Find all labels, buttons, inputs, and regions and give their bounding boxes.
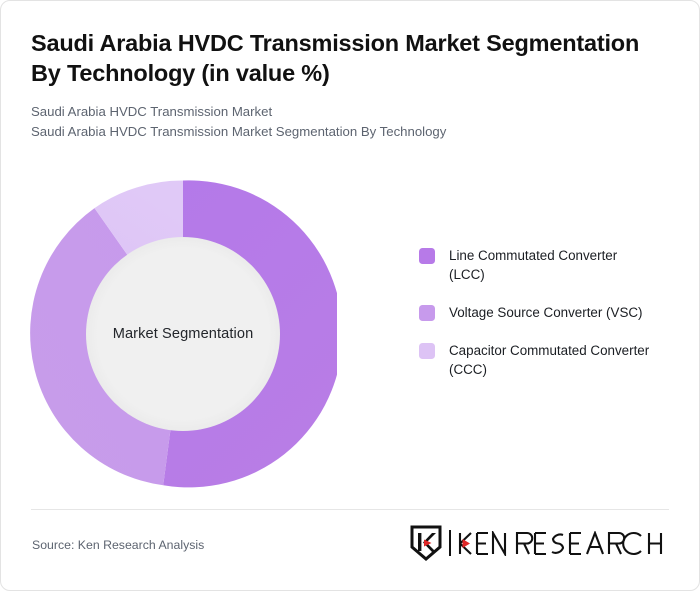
legend-swatch-icon-lcc [419,248,435,264]
ken-research-wordmark-icon [458,531,670,556]
donut-hole [86,237,280,431]
footer-divider [31,509,669,510]
source-note: Source: Ken Research Analysis [32,538,204,552]
donut-chart: Market Segmentation [29,180,337,488]
legend-label-vsc: Voltage Source Converter (VSC) [449,303,643,322]
subtitle-line-1: Saudi Arabia HVDC Transmission Market [31,102,669,122]
ken-research-shield-icon [410,525,442,561]
ken-research-logo [410,524,670,562]
subtitle-line-2: Saudi Arabia HVDC Transmission Market Se… [31,122,669,142]
header: Saudi Arabia HVDC Transmission Market Se… [31,28,669,142]
page-title: Saudi Arabia HVDC Transmission Market Se… [31,28,669,88]
donut-svg [29,180,337,488]
logo-divider [449,530,451,556]
legend-swatch-icon-ccc [419,343,435,359]
legend-item-lcc[interactable]: Line Commutated Converter (LCC) [419,246,674,284]
legend-item-vsc[interactable]: Voltage Source Converter (VSC) [419,303,674,322]
chart-card: Saudi Arabia HVDC Transmission Market Se… [0,0,700,591]
legend-label-lcc: Line Commutated Converter (LCC) [449,246,654,284]
legend: Line Commutated Converter (LCC) Voltage … [419,246,674,379]
legend-item-ccc[interactable]: Capacitor Commutated Converter (CCC) [419,341,674,379]
subtitle-group: Saudi Arabia HVDC Transmission Market Sa… [31,102,669,142]
legend-label-ccc: Capacitor Commutated Converter (CCC) [449,341,654,379]
chart-area: Market Segmentation Line Commutated Conv… [1,161,700,506]
legend-swatch-icon-vsc [419,305,435,321]
